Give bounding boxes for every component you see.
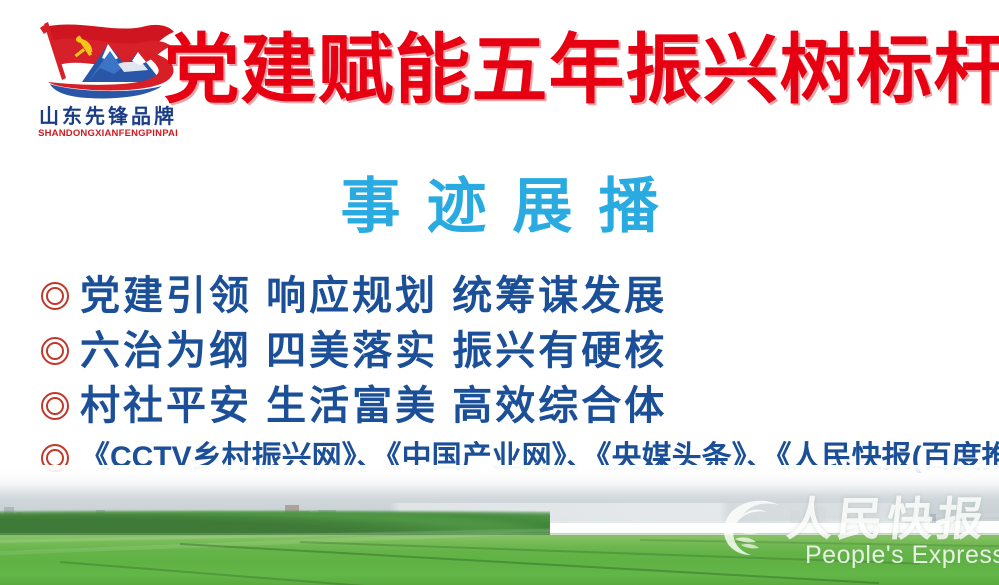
page-subtitle: 事迹展播 xyxy=(0,172,999,242)
page-title: 党建赋能五年振兴树标杆 xyxy=(192,22,982,120)
watermark-english: People's Express xyxy=(805,541,999,569)
watermark-chinese: 人民快报 xyxy=(784,495,989,545)
slogan-text: 六治为纲 四美落实 振兴有硬核 xyxy=(80,329,667,373)
swirl-wheat-circle-icon xyxy=(719,497,785,559)
slogan-text: 党建引领 响应规划 统筹谋发展 xyxy=(80,274,667,318)
peoples-express-watermark: 人民快报 People's Express xyxy=(719,495,991,573)
double-circle-bullet-icon xyxy=(40,391,70,421)
double-circle-bullet-icon xyxy=(40,281,70,311)
logo-pinyin: SHANDONGXIANFENGPINPAI xyxy=(22,128,194,139)
slogan-text: 村社平安 生活富美 高效综合体 xyxy=(80,384,667,428)
photo-top-fade xyxy=(0,465,999,495)
list-item: 村社平安 生活富美 高效综合体 xyxy=(0,378,999,433)
list-item: 六治为纲 四美落实 振兴有硬核 xyxy=(0,323,999,378)
poster-root: 山东先锋品牌 SHANDONGXIANFENGPINPAI 党建赋能五年振兴树标… xyxy=(0,0,999,585)
slogan-list: 党建引领 响应规划 统筹谋发展 六治为纲 四美落实 振兴有硬核 村社平安 生活富… xyxy=(0,268,999,483)
double-circle-bullet-icon xyxy=(40,336,70,366)
list-item: 党建引领 响应规划 统筹谋发展 xyxy=(0,268,999,323)
